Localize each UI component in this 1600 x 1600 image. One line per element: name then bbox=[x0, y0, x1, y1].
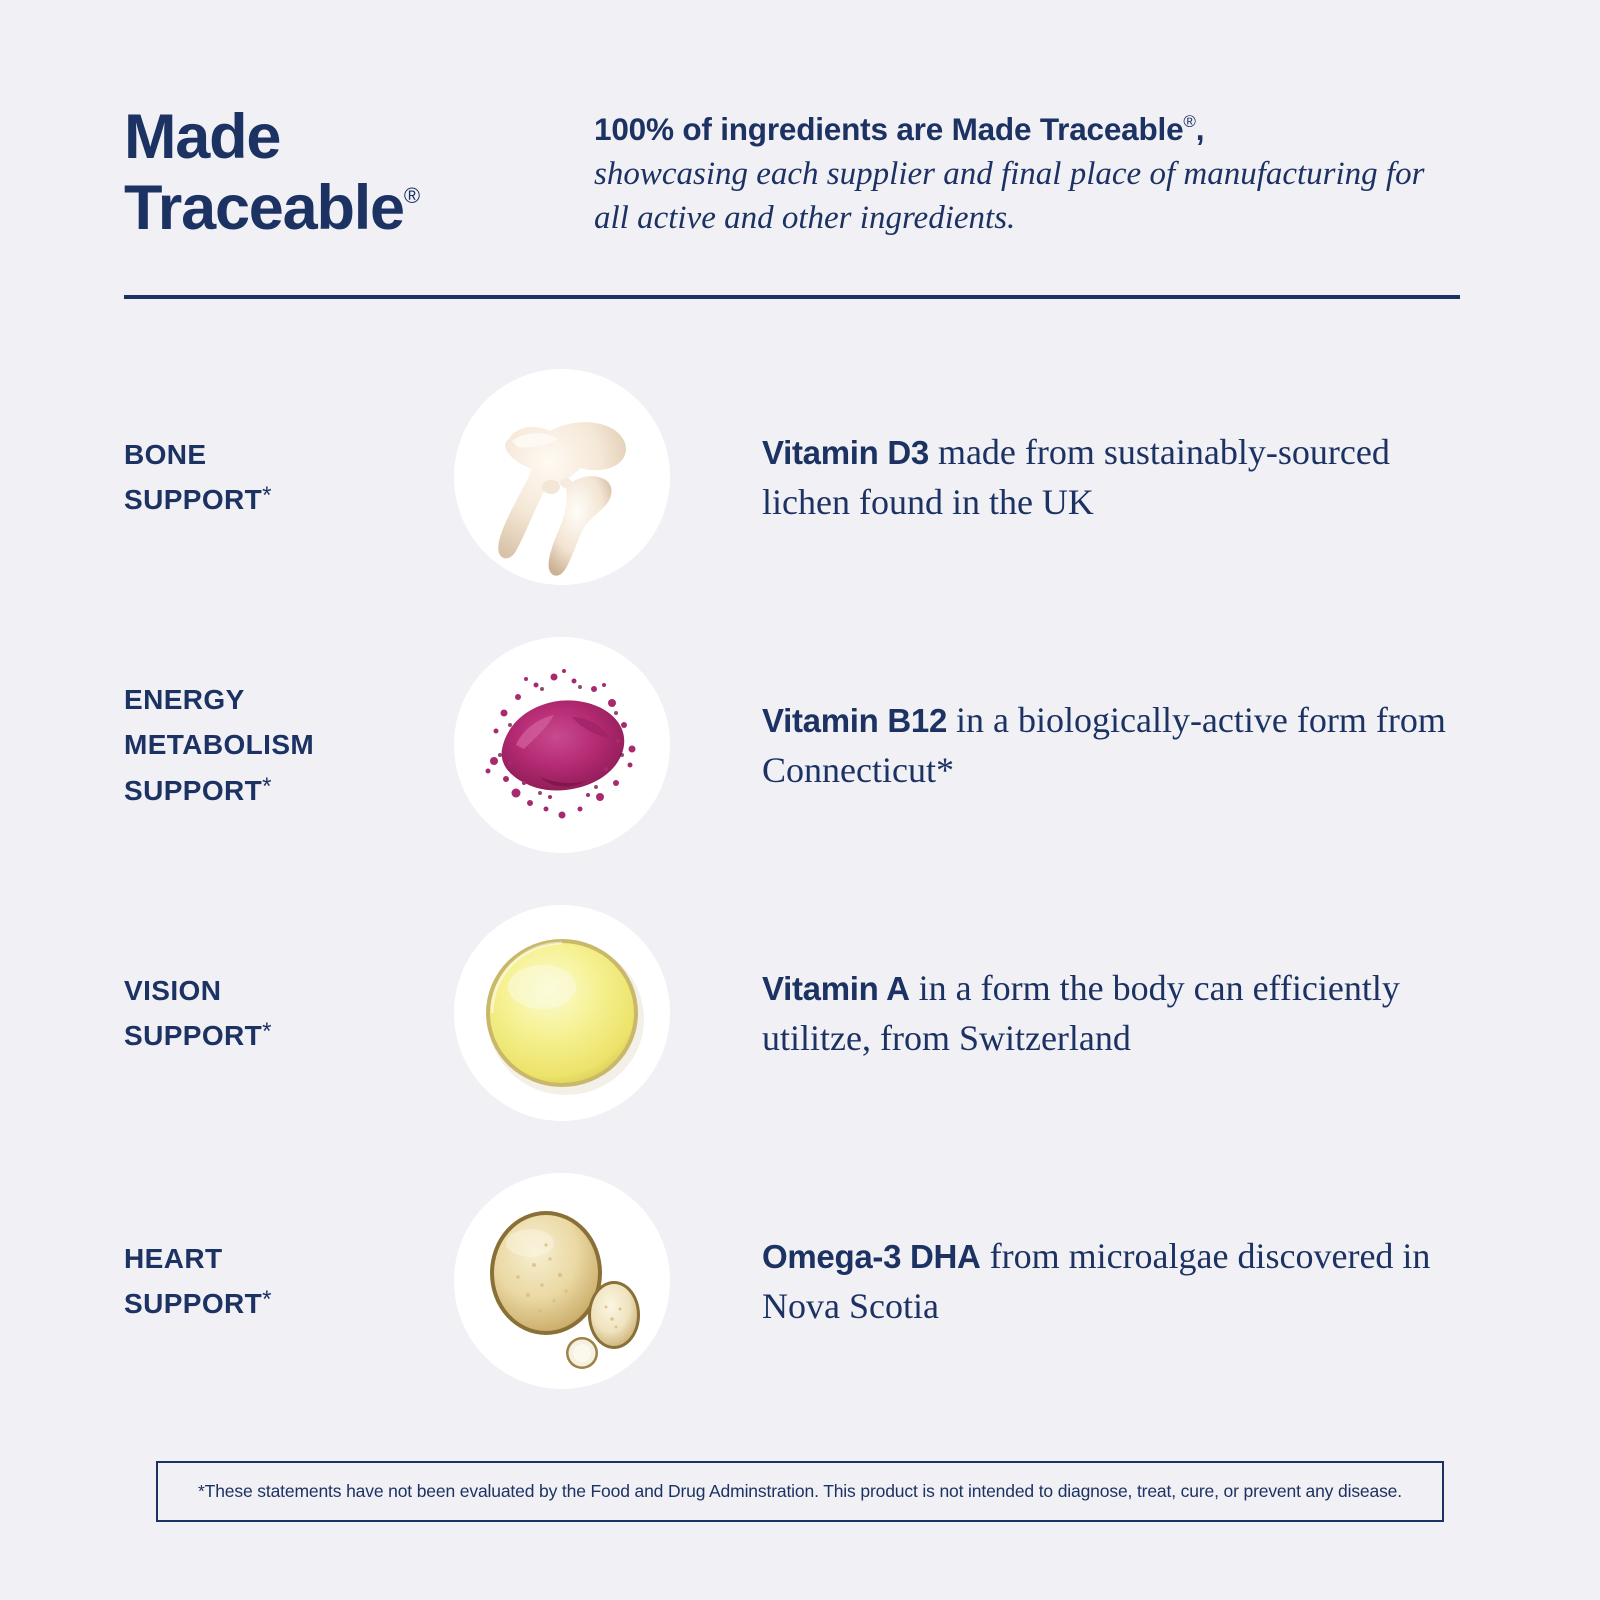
asterisk-icon: * bbox=[262, 1286, 272, 1313]
page-title: Made Traceable® bbox=[124, 102, 594, 243]
asterisk-icon: * bbox=[262, 773, 272, 800]
benefit-media bbox=[454, 369, 754, 585]
intro-lead-text: 100% of ingredients are Made Traceable bbox=[594, 111, 1183, 147]
registered-trademark-icon: ® bbox=[1183, 112, 1195, 131]
benefit-row: HEART SUPPORT* bbox=[124, 1147, 1460, 1415]
benefit-media bbox=[454, 905, 754, 1121]
made-traceable-infographic: Made Traceable® 100% of ingredients are … bbox=[0, 0, 1600, 1600]
intro-lead-comma: , bbox=[1196, 111, 1205, 147]
intro-italic-body: showcasing each supplier and final place… bbox=[594, 153, 1460, 241]
ingredient-name: Vitamin B12 bbox=[762, 702, 947, 739]
ingredient-name: Vitamin A bbox=[762, 970, 910, 1007]
header-divider bbox=[124, 295, 1460, 299]
disclaimer-box: *These statements have not been evaluate… bbox=[156, 1461, 1444, 1522]
benefit-label-energy-metabolism: ENERGY METABOLISM SUPPORT* bbox=[124, 677, 454, 813]
asterisk-icon: * bbox=[262, 482, 272, 509]
cream-lichen-swatch-image bbox=[454, 369, 670, 585]
benefit-description-energy: Vitamin B12 in a biologically-active for… bbox=[754, 695, 1460, 796]
intro-lead-line: 100% of ingredients are Made Traceable®, bbox=[594, 108, 1460, 151]
benefit-label-text: VISION SUPPORT bbox=[124, 975, 262, 1051]
intro-block: 100% of ingredients are Made Traceable®,… bbox=[594, 96, 1460, 241]
yellow-oil-droplet-image bbox=[454, 905, 670, 1121]
brand-name-line1: Made bbox=[124, 102, 280, 172]
brand-lockup: Made Traceable® bbox=[124, 96, 594, 243]
benefit-description-vision: Vitamin A in a form the body can efficie… bbox=[754, 963, 1460, 1064]
amber-oil-droplets-image bbox=[454, 1173, 670, 1389]
ingredient-name: Omega-3 DHA bbox=[762, 1238, 981, 1275]
asterisk-icon: * bbox=[262, 1018, 272, 1045]
disclaimer-text: *These statements have not been evaluate… bbox=[178, 1480, 1422, 1503]
benefit-row: VISION SUPPORT* bbox=[124, 879, 1460, 1147]
benefit-label-bone: BONE SUPPORT* bbox=[124, 432, 454, 523]
benefit-media bbox=[454, 637, 754, 853]
benefit-description-bone: Vitamin D3 made from sustainably-sourced… bbox=[754, 427, 1460, 528]
berry-powder-image bbox=[454, 637, 670, 853]
benefit-label-text: HEART SUPPORT bbox=[124, 1243, 262, 1319]
header: Made Traceable® 100% of ingredients are … bbox=[0, 0, 1600, 243]
benefit-label-heart: HEART SUPPORT* bbox=[124, 1236, 454, 1327]
benefit-row: ENERGY METABOLISM SUPPORT* bbox=[124, 611, 1460, 879]
benefit-description-heart: Omega-3 DHA from microalgae discovered i… bbox=[754, 1231, 1460, 1332]
ingredient-name: Vitamin D3 bbox=[762, 434, 929, 471]
benefit-label-vision: VISION SUPPORT* bbox=[124, 968, 454, 1059]
benefit-row: BONE SUPPORT* bbox=[124, 343, 1460, 611]
benefit-label-text: BONE SUPPORT bbox=[124, 439, 262, 515]
benefit-media bbox=[454, 1173, 754, 1389]
brand-name-line2: Traceable bbox=[124, 173, 404, 243]
registered-trademark-icon: ® bbox=[404, 183, 420, 208]
benefit-label-text: ENERGY METABOLISM SUPPORT bbox=[124, 684, 314, 806]
benefit-rows: BONE SUPPORT* bbox=[0, 343, 1600, 1415]
